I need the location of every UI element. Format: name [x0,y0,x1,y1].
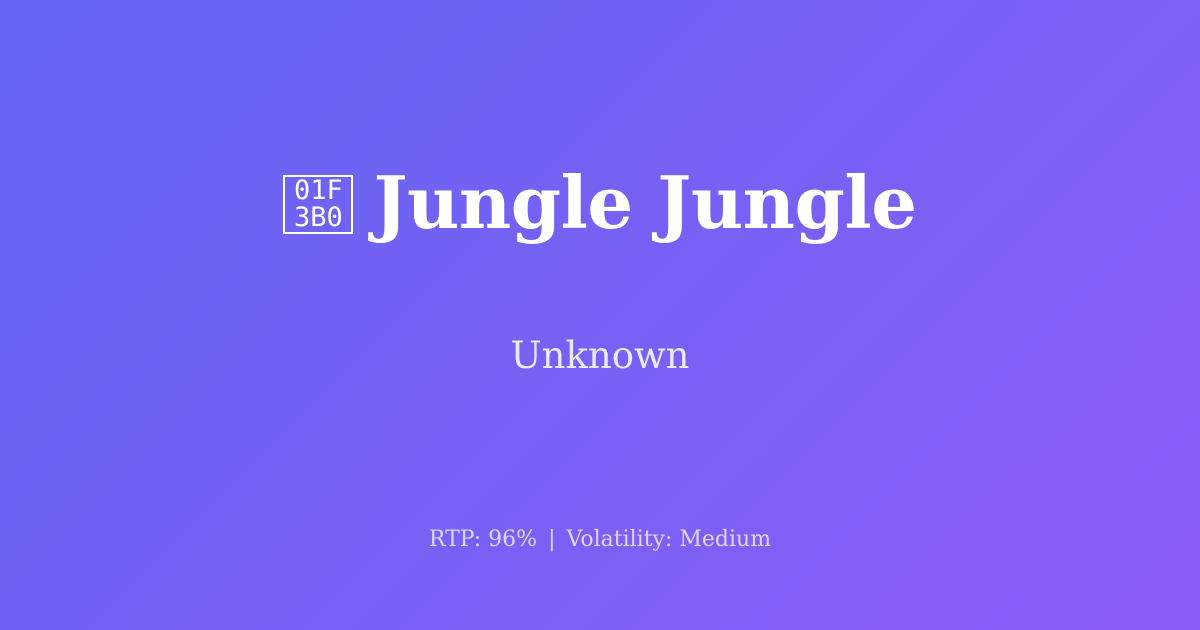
game-provider: Unknown [510,337,689,374]
game-meta-footer: RTP: 96% | Volatility: Medium [0,529,1200,551]
game-og-card: 01F 3B0 Jungle Jungle Unknown RTP: 96% |… [0,0,1200,630]
slot-machine-icon-codepoint-high: 01F [294,177,343,204]
rtp-value: RTP: 96% [429,527,537,552]
meta-separator: | [544,527,559,552]
title-row: 01F 3B0 Jungle Jungle [283,119,916,287]
slot-machine-icon-codepoint-low: 3B0 [294,204,343,231]
slot-machine-icon: 01F 3B0 [283,175,353,234]
volatility-value: Volatility: Medium [567,527,772,552]
hero-block: 01F 3B0 Jungle Jungle Unknown [0,0,1200,493]
game-title: Jungle Jungle [373,167,916,239]
